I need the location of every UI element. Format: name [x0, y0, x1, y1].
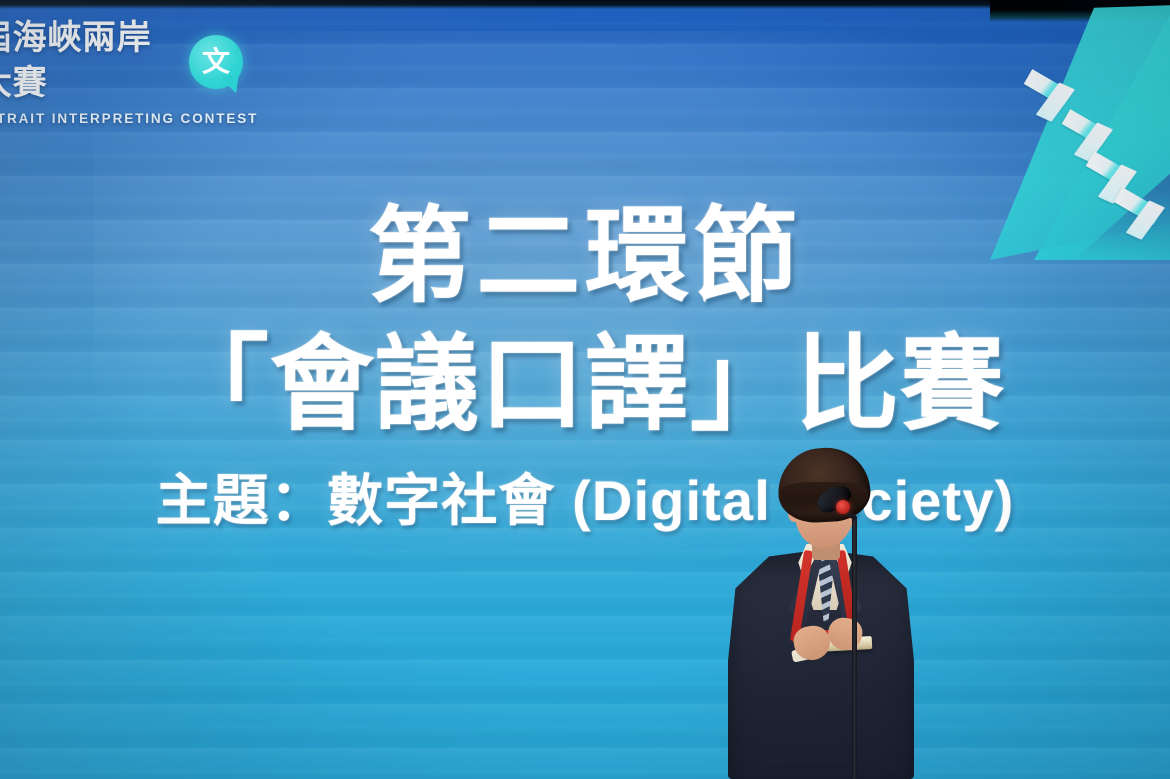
logo-chinese-line-2: 大賽 — [0, 62, 300, 104]
chevron-arrow-icon — [1024, 69, 1072, 107]
speech-bubble-icon: 文 — [189, 35, 243, 89]
microphone-indicator-light — [836, 500, 850, 514]
logo-chinese-line-1: 屆海峽兩岸 — [0, 18, 300, 58]
bubble-glyph: 文 — [202, 48, 230, 76]
corner-decoration — [970, 0, 1170, 260]
event-logo-lockup: 屆海峽兩岸 大賽 文 STRAIT INTERPRETING CONTEST — [0, 18, 300, 126]
speaker-figure — [716, 448, 926, 779]
stage-screen-photo: 屆海峽兩岸 大賽 文 STRAIT INTERPRETING CONTEST 第… — [0, 0, 1170, 779]
logo-english-subtitle: STRAIT INTERPRETING CONTEST — [0, 111, 300, 126]
microphone-stand — [852, 516, 857, 779]
